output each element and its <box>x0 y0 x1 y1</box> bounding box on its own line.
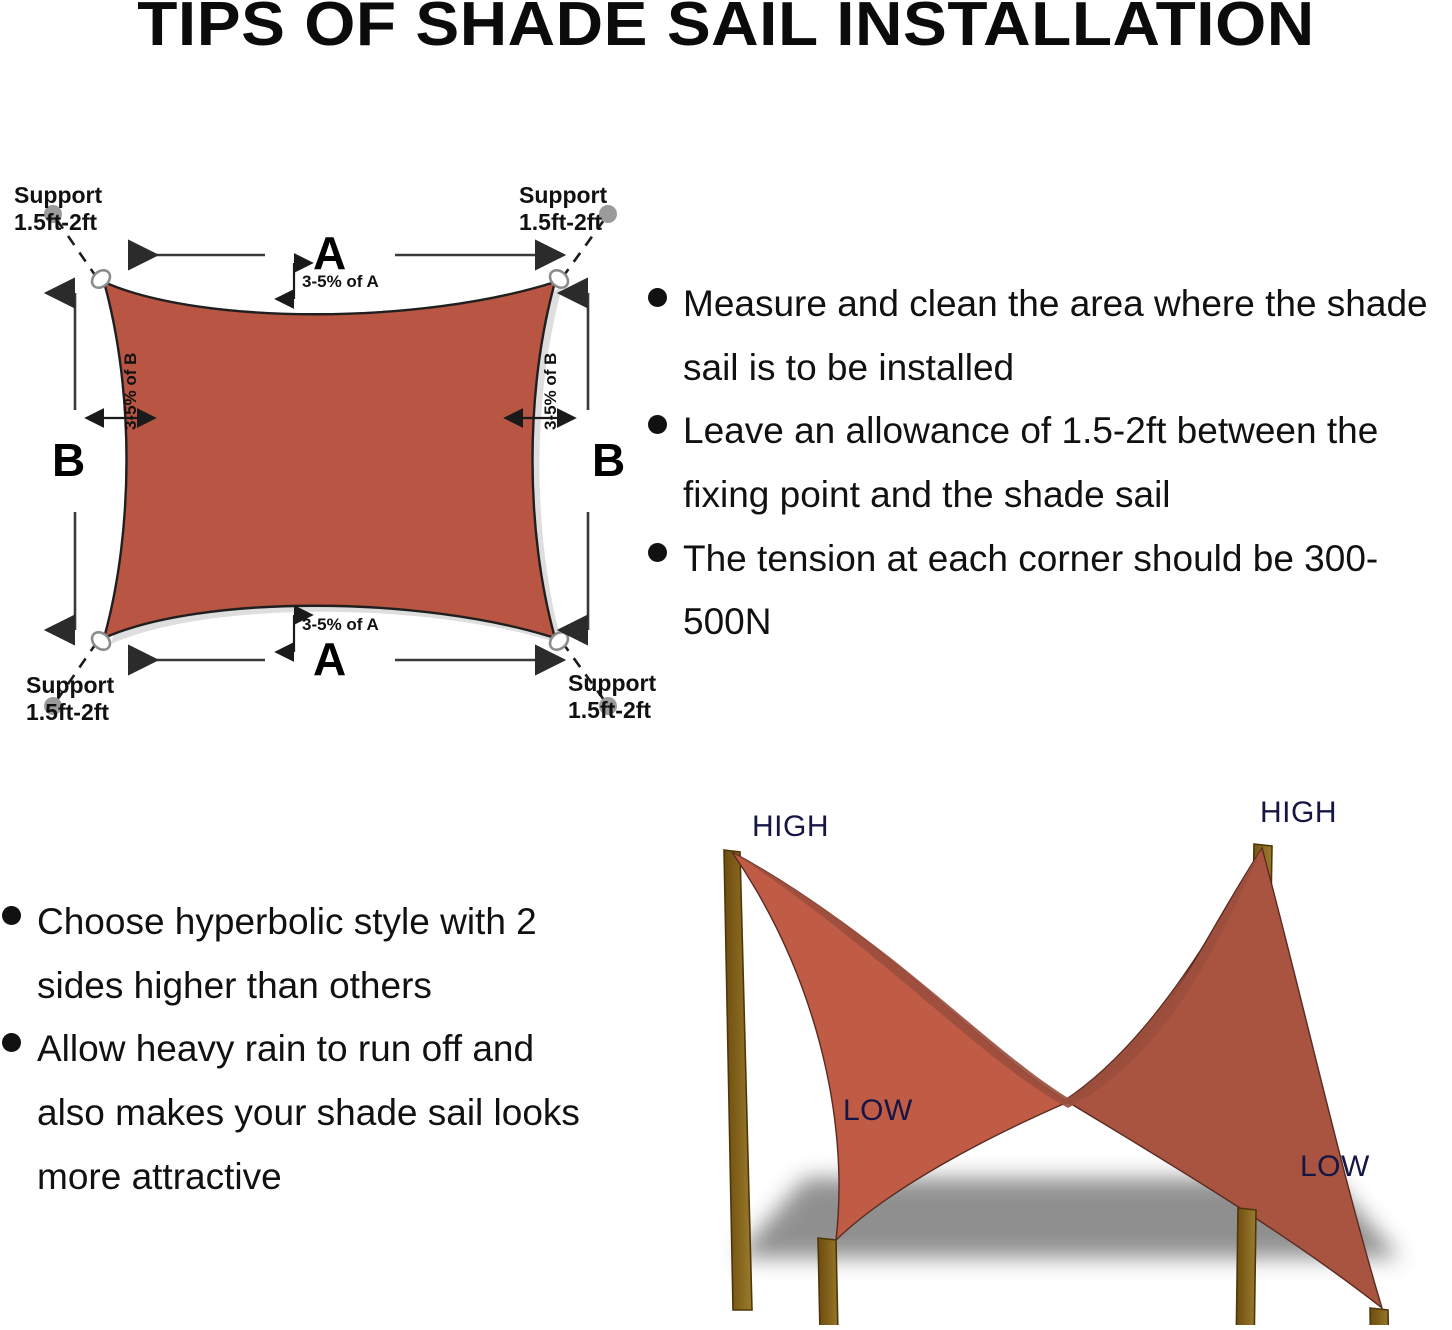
support-label-top-right: Support 1.5ft-2ft <box>519 182 607 236</box>
list-item: The tension at each corner should be 300… <box>648 527 1452 654</box>
list-item-text: Allow heavy rain to run off and also mak… <box>37 1017 612 1208</box>
bullet-dot-icon <box>648 288 667 307</box>
list-item-text: The tension at each corner should be 300… <box>683 527 1452 654</box>
curvature-label-top: 3-5% of A <box>302 272 379 292</box>
curvature-label-right: 3-5% of B <box>541 353 561 430</box>
post-low-middle <box>1235 1208 1256 1325</box>
curvature-label-left: 3-5% of B <box>121 353 141 430</box>
support-label-line1: Support <box>568 670 656 696</box>
infographic-page: TIPS OF SHADE SAIL INSTALLATION <box>0 0 1452 1325</box>
support-label-line1: Support <box>14 182 102 208</box>
installation-tips-list: Measure and clean the area where the sha… <box>648 272 1452 654</box>
bullet-dot-icon <box>2 906 21 925</box>
curvature-label-bottom: 3-5% of A <box>302 615 379 635</box>
list-item-text: Leave an allowance of 1.5-2ft between th… <box>683 399 1452 526</box>
label-high-right: HIGH <box>1260 796 1337 830</box>
bullet-dot-icon <box>648 543 667 562</box>
support-label-line2: 1.5ft-2ft <box>26 699 114 726</box>
bullet-dot-icon <box>2 1033 21 1052</box>
dimension-letter-right-b: B <box>592 437 625 483</box>
list-item-text: Measure and clean the area where the sha… <box>683 272 1452 399</box>
support-label-bottom-left: Support 1.5ft-2ft <box>26 672 114 726</box>
rectangular-sail-diagram: Support 1.5ft-2ft Support 1.5ft-2ft Supp… <box>0 160 660 740</box>
hyperbolic-style-tips-list: Choose hyperbolic style with 2 sides hig… <box>2 890 622 1208</box>
dimension-letter-bottom-a: A <box>313 636 346 682</box>
dimension-letter-left-b: B <box>52 437 85 483</box>
post-low-left <box>818 1238 840 1325</box>
bullet-dot-icon <box>648 415 667 434</box>
support-label-line2: 1.5ft-2ft <box>568 697 656 724</box>
label-low-left: LOW <box>843 1094 913 1128</box>
support-label-top-left: Support 1.5ft-2ft <box>14 182 102 236</box>
post-low-right <box>1370 1308 1390 1325</box>
support-label-line2: 1.5ft-2ft <box>14 209 102 236</box>
support-label-line2: 1.5ft-2ft <box>519 209 607 236</box>
list-item: Choose hyperbolic style with 2 sides hig… <box>2 890 622 1017</box>
label-high-left: HIGH <box>752 810 829 844</box>
list-item-text: Choose hyperbolic style with 2 sides hig… <box>37 890 612 1017</box>
list-item: Leave an allowance of 1.5-2ft between th… <box>648 399 1452 526</box>
shade-sail-shape <box>104 282 555 638</box>
list-item: Allow heavy rain to run off and also mak… <box>2 1017 622 1208</box>
label-low-right: LOW <box>1300 1150 1370 1184</box>
support-label-line1: Support <box>519 182 607 208</box>
dimension-letter-top-a: A <box>313 230 346 276</box>
post-high-left <box>724 850 752 1310</box>
page-title: TIPS OF SHADE SAIL INSTALLATION <box>0 0 1452 56</box>
support-label-line1: Support <box>26 672 114 698</box>
hyperbolic-sail-diagram: HIGH HIGH LOW LOW <box>640 788 1452 1325</box>
hypar-svg <box>640 788 1452 1325</box>
list-item: Measure and clean the area where the sha… <box>648 272 1452 399</box>
support-label-bottom-right: Support 1.5ft-2ft <box>568 670 656 724</box>
